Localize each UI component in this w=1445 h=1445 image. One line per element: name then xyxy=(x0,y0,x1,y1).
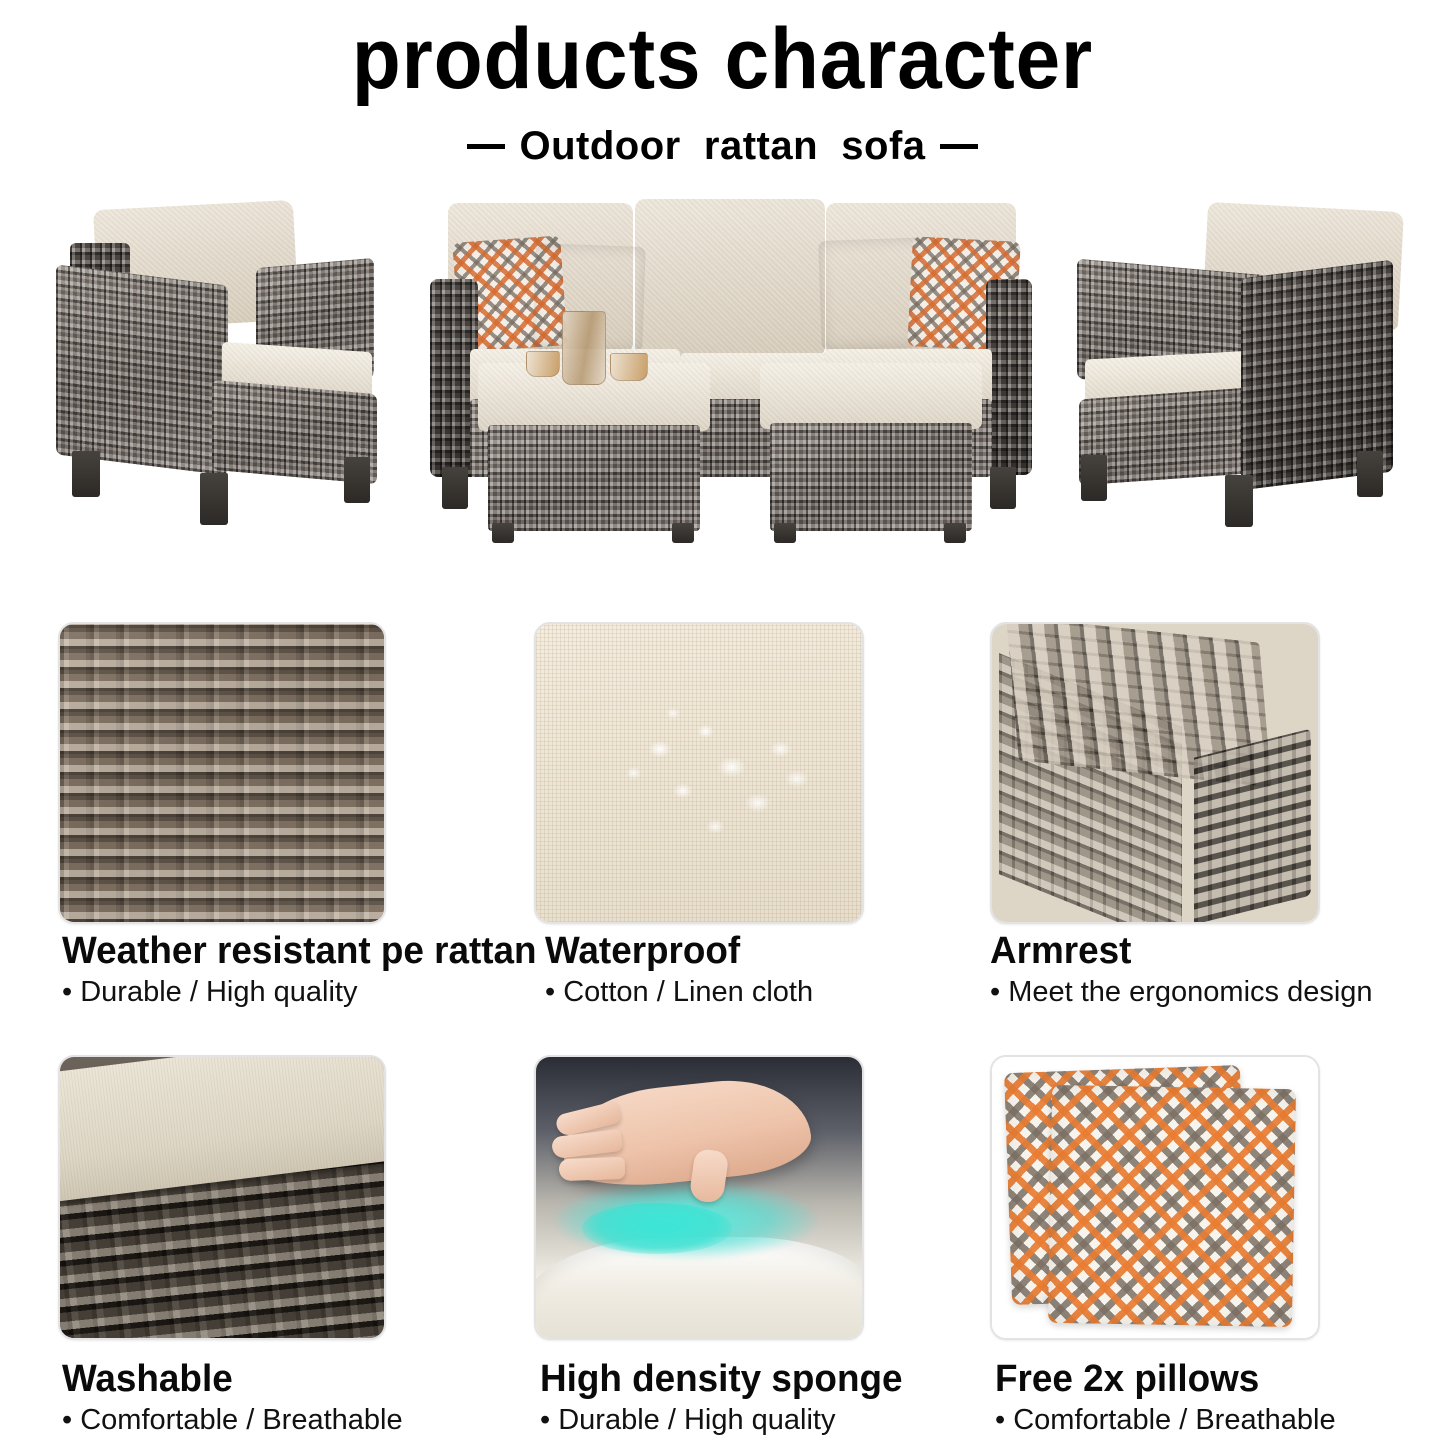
left-chair-leg-2 xyxy=(200,473,228,525)
right-armchair xyxy=(1055,207,1395,537)
teacup-right xyxy=(610,353,648,381)
feature-sub-weather-resistant-pe-rattan: • Durable / High quality xyxy=(62,978,357,1007)
pillow-front xyxy=(1048,1085,1296,1327)
right-ottoman-base xyxy=(770,423,972,531)
woven-armrest-corner-image xyxy=(992,624,1318,922)
page-subtitle: Outdoor rattan sofa xyxy=(519,124,925,169)
left-chair-arm-near xyxy=(56,264,228,475)
right-chair-leg-3 xyxy=(1357,451,1383,497)
feature-title-waterproof: Waterproof xyxy=(545,932,740,970)
teapot xyxy=(562,311,606,385)
infographic-page: products character Outdoor rattan sofa xyxy=(0,0,1445,1445)
feature-thumb-high-density-sponge xyxy=(534,1055,864,1340)
left-ottoman xyxy=(478,363,710,543)
foam-handprint xyxy=(582,1203,732,1254)
feature-sub-armrest: • Meet the ergonomics design xyxy=(990,978,1373,1007)
right-chair-leg-1 xyxy=(1081,455,1107,501)
teacup-left xyxy=(526,351,560,377)
hand-pressing-memory-foam-image xyxy=(536,1057,862,1338)
subtitle-row: Outdoor rattan sofa xyxy=(0,124,1445,169)
left-chair-leg-1 xyxy=(72,451,100,497)
feature-thumb-washable xyxy=(58,1055,386,1340)
feature-thumb-free-2x-pillows xyxy=(990,1055,1320,1340)
feature-title-armrest: Armrest xyxy=(990,932,1131,970)
right-ottoman-cushion xyxy=(760,363,982,429)
left-chair-leg-3 xyxy=(344,457,370,503)
orange-grey-diamond-pillows-image xyxy=(992,1057,1318,1338)
feature-title-washable: Washable xyxy=(62,1360,233,1398)
right-ottoman xyxy=(760,363,982,543)
feature-thumb-waterproof xyxy=(534,622,864,924)
page-title: products character xyxy=(51,16,1395,102)
feature-thumb-armrest xyxy=(990,622,1320,924)
feature-title-free-2x-pillows: Free 2x pillows xyxy=(995,1360,1259,1398)
left-ottoman-base xyxy=(488,425,700,531)
cushion-edge-over-rattan-image xyxy=(60,1057,384,1338)
dash-right-icon xyxy=(940,144,978,149)
hero-product-photo xyxy=(0,185,1445,585)
sofa-arm-right xyxy=(986,279,1032,475)
dash-left-icon xyxy=(467,144,505,149)
right-chair-leg-2 xyxy=(1225,475,1253,527)
feature-thumb-weather-resistant-pe-rattan xyxy=(58,622,386,924)
finger-3 xyxy=(558,1157,625,1181)
feature-title-high-density-sponge: High density sponge xyxy=(540,1360,902,1398)
left-armchair xyxy=(52,205,382,535)
waterproof-linen-droplets-image xyxy=(536,624,862,922)
armrest-front-weave xyxy=(1194,729,1311,924)
feature-sub-free-2x-pillows: • Comfortable / Breathable xyxy=(995,1406,1336,1435)
sofa-leg-right xyxy=(990,467,1016,509)
header: products character Outdoor rattan sofa xyxy=(0,0,1445,169)
sofa-leg-left xyxy=(442,467,468,509)
left-ottoman-leg-2 xyxy=(672,523,694,543)
right-ottoman-leg-1 xyxy=(774,523,796,543)
rattan-weave-macro-image xyxy=(60,624,384,922)
feature-sub-high-density-sponge: • Durable / High quality xyxy=(540,1406,835,1435)
right-ottoman-leg-2 xyxy=(944,523,966,543)
left-ottoman-leg-1 xyxy=(492,523,514,543)
sofa-back-cushion-center xyxy=(635,199,825,357)
feature-title-weather-resistant-pe-rattan: Weather resistant pe rattan xyxy=(62,932,537,970)
feature-sub-waterproof: • Cotton / Linen cloth xyxy=(545,978,813,1007)
feature-sub-washable: • Comfortable / Breathable xyxy=(62,1406,403,1435)
